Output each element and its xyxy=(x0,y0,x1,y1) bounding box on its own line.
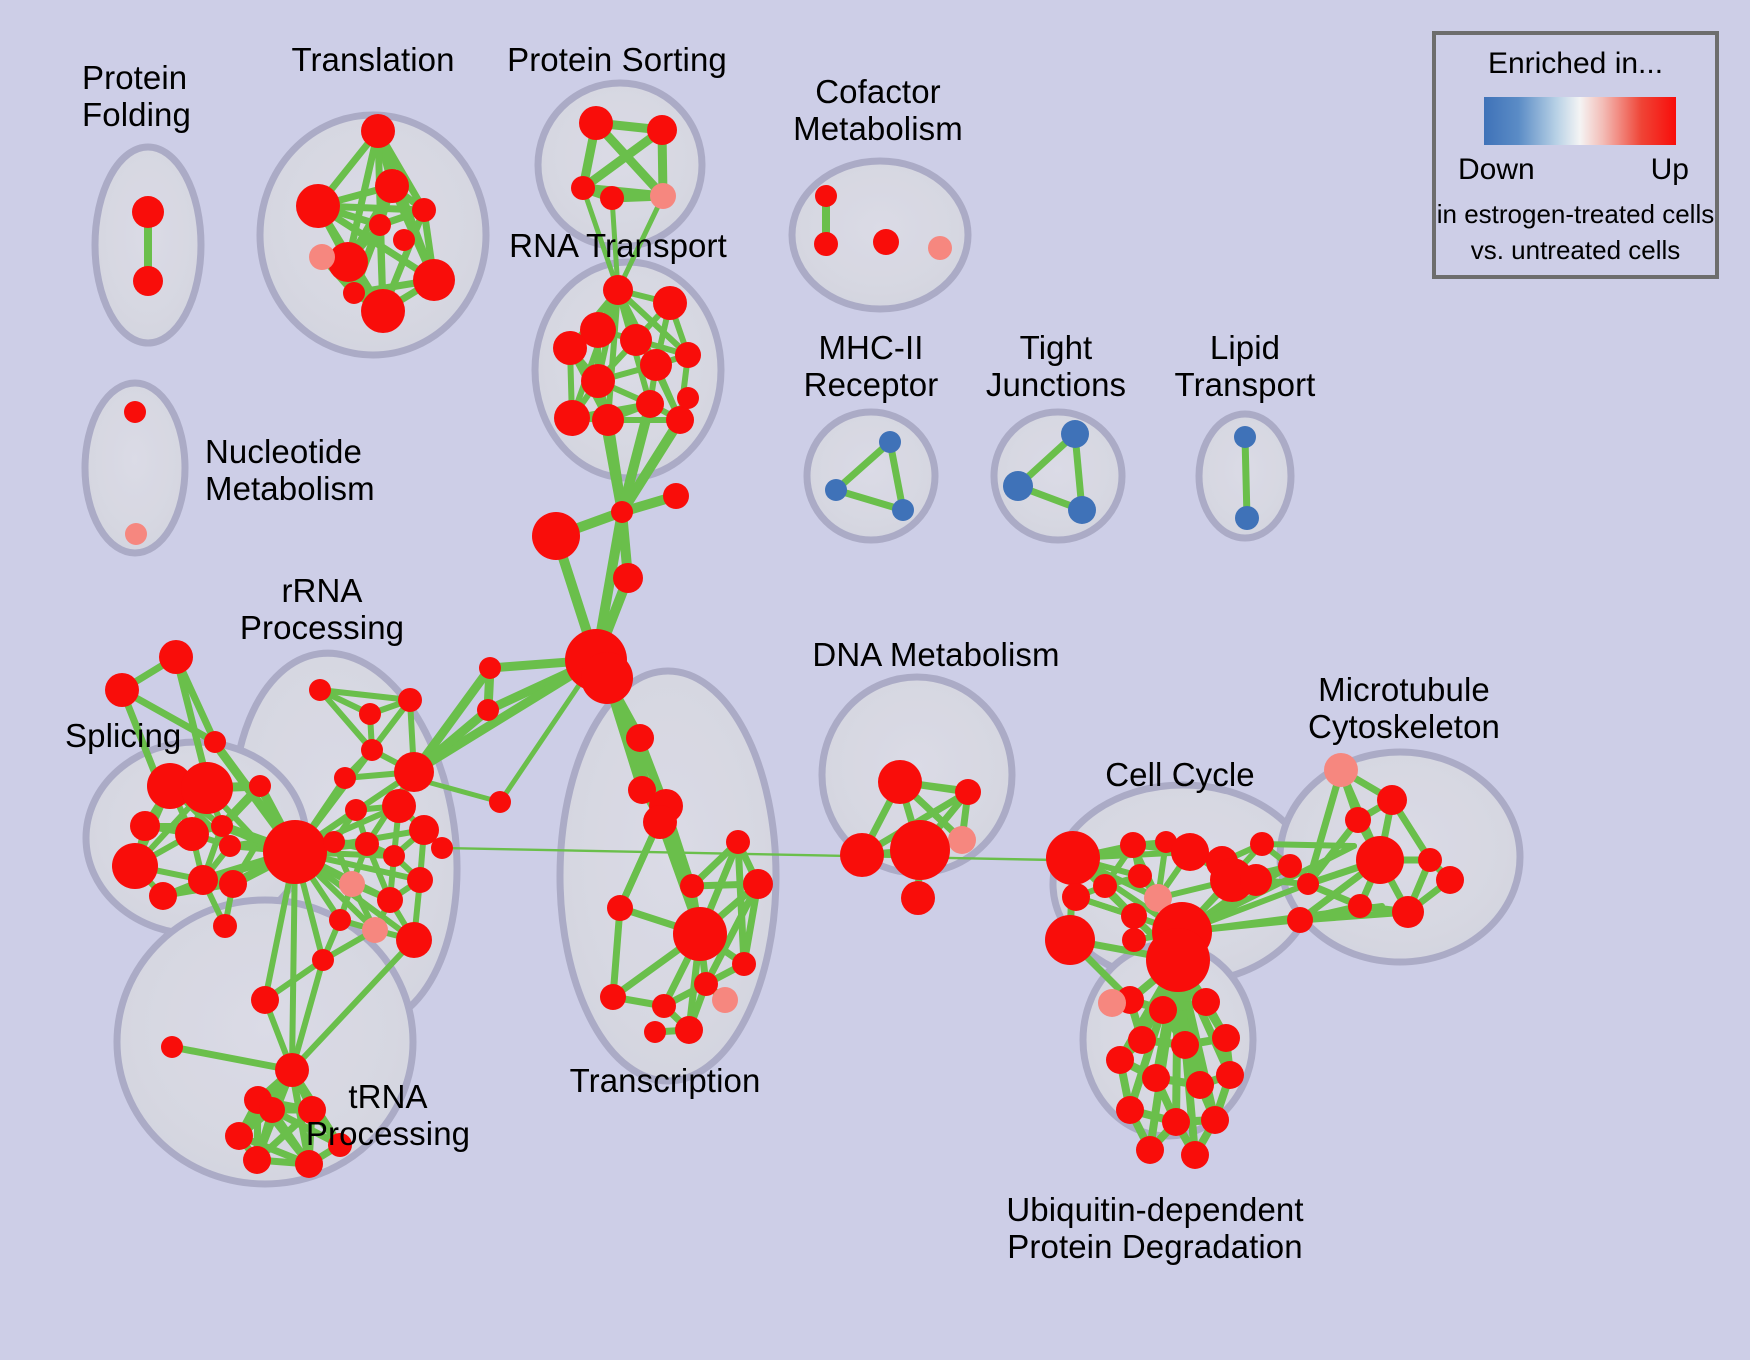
node xyxy=(1121,903,1147,929)
node xyxy=(675,1016,703,1044)
node xyxy=(1235,506,1259,530)
node xyxy=(663,483,689,509)
node xyxy=(653,286,687,320)
node xyxy=(890,820,950,880)
node xyxy=(878,760,922,804)
node xyxy=(650,183,676,209)
node xyxy=(1122,928,1146,952)
cluster-label-cofactor-metabolism: Cofactor Metabolism xyxy=(793,74,963,148)
node xyxy=(1106,1046,1134,1074)
node xyxy=(275,1053,309,1087)
node xyxy=(413,259,455,301)
node xyxy=(355,832,379,856)
node xyxy=(312,949,334,971)
node xyxy=(928,236,952,260)
node xyxy=(1345,807,1371,833)
cluster-label-ubiquitin-protein-degradation: Ubiquitin-dependent Protein Degradation xyxy=(1006,1192,1303,1266)
node xyxy=(892,499,914,521)
node xyxy=(1142,1064,1170,1092)
node xyxy=(1356,836,1404,884)
legend-up-label: Up xyxy=(1651,153,1689,187)
node xyxy=(263,820,327,884)
node xyxy=(159,640,193,674)
node xyxy=(1348,894,1372,918)
node xyxy=(673,907,727,961)
legend-down-label: Down xyxy=(1458,153,1535,187)
node xyxy=(955,779,981,805)
node xyxy=(204,731,226,753)
node xyxy=(243,1146,271,1174)
node xyxy=(345,799,367,821)
node xyxy=(647,115,677,145)
node xyxy=(592,404,624,436)
node xyxy=(1093,874,1117,898)
node xyxy=(1003,471,1033,501)
cluster-label-trna-processing: tRNA Processing xyxy=(306,1079,470,1153)
node xyxy=(1192,988,1220,1016)
node xyxy=(112,843,158,889)
node xyxy=(948,826,976,854)
node xyxy=(1068,496,1096,524)
node xyxy=(1120,832,1146,858)
node xyxy=(1181,1141,1209,1169)
node xyxy=(369,214,391,236)
node xyxy=(901,881,935,915)
node xyxy=(1392,896,1424,928)
node xyxy=(477,699,499,721)
node xyxy=(407,867,433,893)
node xyxy=(309,679,331,701)
node xyxy=(1287,907,1313,933)
node xyxy=(361,739,383,761)
node xyxy=(382,789,416,823)
node xyxy=(652,994,676,1018)
cluster-label-mhc-ii-receptor: MHC-II Receptor xyxy=(804,330,939,404)
node xyxy=(1377,785,1407,815)
node xyxy=(1212,1024,1240,1052)
cluster-label-rrna-processing: rRNA Processing xyxy=(240,573,404,647)
node xyxy=(680,874,704,898)
legend-panel: Enriched in... Down Up in estrogen-treat… xyxy=(1432,31,1719,279)
node xyxy=(1128,864,1152,888)
node xyxy=(105,673,139,707)
node xyxy=(383,845,405,867)
cluster-label-tight-junctions: Tight Junctions xyxy=(986,330,1126,404)
node xyxy=(579,106,613,140)
node xyxy=(329,909,351,931)
node xyxy=(611,501,633,523)
node xyxy=(600,984,626,1010)
node xyxy=(571,176,595,200)
node xyxy=(732,952,756,976)
node xyxy=(640,349,672,381)
node xyxy=(743,869,773,899)
node xyxy=(188,865,218,895)
node xyxy=(412,198,436,222)
node xyxy=(1128,1026,1156,1054)
node xyxy=(132,196,164,228)
node xyxy=(607,895,633,921)
node xyxy=(873,229,899,255)
legend-subtitle-line-2: vs. untreated cells xyxy=(1436,235,1715,266)
node xyxy=(554,400,590,436)
node xyxy=(219,870,247,898)
node xyxy=(213,914,237,938)
node xyxy=(309,244,335,270)
node xyxy=(1171,833,1209,871)
node xyxy=(636,390,664,418)
node xyxy=(398,688,422,712)
node xyxy=(339,871,365,897)
legend-color-gradient-bar xyxy=(1484,97,1676,145)
node xyxy=(815,185,837,207)
node xyxy=(295,1150,323,1178)
node xyxy=(1046,831,1100,885)
node xyxy=(1201,1106,1229,1134)
node xyxy=(694,972,718,996)
node xyxy=(675,342,701,368)
node xyxy=(1216,1061,1244,1089)
cluster-label-cell-cycle: Cell Cycle xyxy=(1105,757,1255,794)
node xyxy=(343,282,365,304)
node xyxy=(251,986,279,1014)
node xyxy=(1098,989,1126,1017)
node xyxy=(211,815,233,837)
cluster-label-translation: Translation xyxy=(291,42,454,79)
cluster-label-microtubule-cytoskeleton: Microtubule Cytoskeleton xyxy=(1308,672,1500,746)
node xyxy=(375,169,409,203)
node xyxy=(581,364,615,398)
node xyxy=(1234,426,1256,448)
node xyxy=(643,805,677,839)
node xyxy=(181,762,233,814)
node xyxy=(394,752,434,792)
cluster-label-transcription: Transcription xyxy=(570,1063,761,1100)
node xyxy=(1436,866,1464,894)
node xyxy=(393,229,415,251)
node xyxy=(361,114,395,148)
node xyxy=(130,811,160,841)
node xyxy=(1297,873,1319,895)
cluster-label-nucleotide-metabolism: Nucleotide Metabolism xyxy=(205,434,375,508)
node xyxy=(626,724,654,752)
node xyxy=(1250,832,1274,856)
cluster-label-rna-transport: RNA Transport xyxy=(509,228,727,265)
node xyxy=(361,289,405,333)
node xyxy=(431,837,453,859)
node xyxy=(879,431,901,453)
node xyxy=(666,406,694,434)
node xyxy=(553,331,587,365)
node xyxy=(1062,883,1090,911)
node xyxy=(840,833,884,877)
node xyxy=(334,767,356,789)
legend-title: Enriched in... xyxy=(1436,47,1715,81)
node xyxy=(1278,854,1302,878)
node xyxy=(581,652,633,704)
node xyxy=(1186,1071,1214,1099)
node xyxy=(359,703,381,725)
node xyxy=(1045,915,1095,965)
node xyxy=(1149,996,1177,1024)
node xyxy=(149,882,177,910)
node xyxy=(377,887,403,913)
node xyxy=(603,275,633,305)
node xyxy=(726,830,750,854)
node xyxy=(1418,848,1442,872)
node xyxy=(296,184,340,228)
node xyxy=(1146,928,1210,992)
node xyxy=(161,1036,183,1058)
hull-mhc xyxy=(807,412,935,540)
node xyxy=(1061,420,1089,448)
cluster-label-protein-sorting: Protein Sorting xyxy=(507,42,727,79)
node xyxy=(362,917,388,943)
node xyxy=(219,835,241,857)
node xyxy=(396,922,432,958)
node xyxy=(1171,1031,1199,1059)
cluster-label-lipid-transport: Lipid Transport xyxy=(1175,330,1316,404)
node xyxy=(1116,1096,1144,1124)
node xyxy=(600,186,624,210)
node xyxy=(479,657,501,679)
node xyxy=(323,831,345,853)
node xyxy=(124,401,146,423)
node xyxy=(1162,1108,1190,1136)
node xyxy=(259,1097,285,1123)
node xyxy=(814,232,838,256)
node xyxy=(489,791,511,813)
enrichment-map-figure: Protein Folding Translation Protein Sort… xyxy=(0,0,1750,1360)
node xyxy=(825,479,847,501)
node xyxy=(249,775,271,797)
hull-transcription xyxy=(560,671,776,1081)
legend-subtitle-line-1: in estrogen-treated cells xyxy=(1436,199,1715,230)
cluster-label-protein-folding: Protein Folding xyxy=(82,60,191,134)
node xyxy=(133,266,163,296)
cluster-label-splicing: Splicing xyxy=(65,718,181,755)
node xyxy=(613,563,643,593)
node xyxy=(712,987,738,1013)
node xyxy=(175,817,209,851)
node xyxy=(1240,864,1272,896)
node xyxy=(620,324,652,356)
node xyxy=(644,1021,666,1043)
node xyxy=(225,1122,253,1150)
node xyxy=(1324,753,1358,787)
node xyxy=(125,523,147,545)
node xyxy=(1136,1136,1164,1164)
cluster-label-dna-metabolism: DNA Metabolism xyxy=(812,637,1059,674)
node xyxy=(677,387,699,409)
node xyxy=(532,512,580,560)
